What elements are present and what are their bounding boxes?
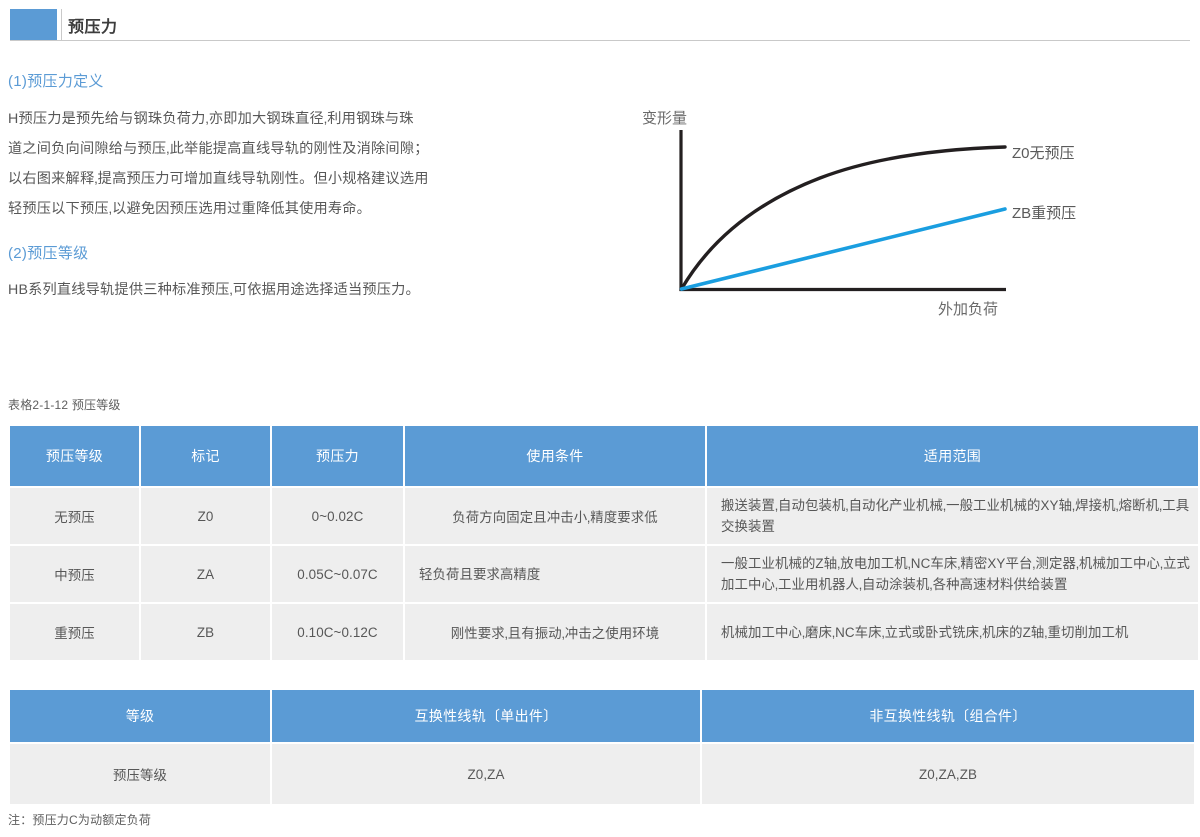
subheading-preload-definition: (1)预压力定义 xyxy=(8,70,104,91)
cell-conditions: 轻负荷且要求高精度 xyxy=(405,546,705,602)
cell-applications: 机械加工中心‚磨床‚NC车床‚立式或卧式铣床‚机床的Z轴‚重切削加工机 xyxy=(707,604,1198,660)
column-header-interchangeable: 互换性线轨〔单出件〕 xyxy=(272,690,700,742)
cell-conditions: 负荷方向固定且冲击小‚精度要求低 xyxy=(405,488,705,544)
cell-grade: 重预压 xyxy=(10,604,139,660)
chart-series-z0-curve xyxy=(682,147,1006,289)
section-header: 预压力 xyxy=(10,9,1190,41)
cell-applications: 一般工业机械的Z轴‚放电加工机‚NC车床‚精密XY平台‚测定器‚机械加工中心‚立… xyxy=(707,546,1198,602)
document-page: 预压力 (1)预压力定义 H预压力是预先给与钢珠负荷力‚亦即加大钢珠直径‚利用钢… xyxy=(0,0,1200,837)
table-preload-grades: 预压等级 标记 预压力 使用条件 适用范围 无预压 Z0 0~0.02C 负荷方… xyxy=(8,424,1200,662)
table-caption-preload-grades: 表格2-1-12 预压等级 xyxy=(8,396,121,413)
cell-grade: 无预压 xyxy=(10,488,139,544)
section-accent-swatch xyxy=(10,9,57,40)
chart-y-axis-label: 变形量 xyxy=(642,107,687,128)
table-row: 中预压 ZA 0.05C~0.07C 轻负荷且要求高精度 一般工业机械的Z轴‚放… xyxy=(10,546,1198,602)
paragraph-line: 道之间负向间隙给与预压‚此举能提高直线导轨的刚性及消除间隙； xyxy=(8,134,568,164)
column-header-conditions: 使用条件 xyxy=(405,426,705,486)
chart-series-zb-line xyxy=(682,209,1006,289)
paragraph-line: H预压力是预先给与钢珠负荷力‚亦即加大钢珠直径‚利用钢珠与珠 xyxy=(8,104,568,134)
cell-mark: ZB xyxy=(141,604,270,660)
column-header-applications: 适用范围 xyxy=(707,426,1198,486)
cell-force: 0.10C~0.12C xyxy=(272,604,403,660)
table-header-row: 等级 互换性线轨〔单出件〕 非互换性线轨〔组合件〕 xyxy=(10,690,1194,742)
column-header-non-interchangeable: 非互换性线轨〔组合件〕 xyxy=(702,690,1194,742)
paragraph-line: 轻预压以下预压‚以避免因预压选用过重降低其使用寿命。 xyxy=(8,194,568,224)
paragraph-line: 以右图来解释‚提高预压力可增加直线导轨刚性。但小规格建议选用 xyxy=(8,164,568,194)
cell-non-interchangeable: Z0,ZA,ZB xyxy=(702,744,1194,804)
cell-grade: 中预压 xyxy=(10,546,139,602)
page-title: 预压力 xyxy=(68,13,118,37)
cell-mark: ZA xyxy=(141,546,270,602)
cell-force: 0.05C~0.07C xyxy=(272,546,403,602)
section-underline xyxy=(10,40,1190,41)
cell-conditions: 刚性要求‚且有振动‚冲击之使用环境 xyxy=(405,604,705,660)
table-header-row: 预压等级 标记 预压力 使用条件 适用范围 xyxy=(10,426,1198,486)
column-header-grade: 预压等级 xyxy=(10,426,139,486)
cell-applications: 搬送装置‚自动包装机‚自动化产业机械‚一般工业机械的XY轴‚焊接机‚熔断机‚工具… xyxy=(707,488,1198,544)
table-row: 无预压 Z0 0~0.02C 负荷方向固定且冲击小‚精度要求低 搬送装置‚自动包… xyxy=(10,488,1198,544)
chart-legend-label-z0: Z0无预压 xyxy=(1012,142,1075,163)
table-rail-types: 等级 互换性线轨〔单出件〕 非互换性线轨〔组合件〕 预压等级 Z0,ZA Z0,… xyxy=(8,688,1196,806)
cell-grade: 预压等级 xyxy=(10,744,270,804)
chart-x-axis-label: 外加负荷 xyxy=(938,298,998,319)
cell-interchangeable: Z0,ZA xyxy=(272,744,700,804)
table-row: 预压等级 Z0,ZA Z0,ZA,ZB xyxy=(10,744,1194,804)
cell-force: 0~0.02C xyxy=(272,488,403,544)
paragraph-preload-definition: H预压力是预先给与钢珠负荷力‚亦即加大钢珠直径‚利用钢珠与珠 道之间负向间隙给与… xyxy=(8,104,568,224)
section-divider xyxy=(61,9,62,40)
table-row: 重预压 ZB 0.10C~0.12C 刚性要求‚且有振动‚冲击之使用环境 机械加… xyxy=(10,604,1198,660)
column-header-grade: 等级 xyxy=(10,690,270,742)
column-header-force: 预压力 xyxy=(272,426,403,486)
footnote: 注：预压力C为动额定负荷 xyxy=(8,811,151,828)
paragraph-preload-grades: HB系列直线导轨提供三种标准预压‚可依据用途选择适当预压力。 xyxy=(8,277,578,303)
subheading-preload-grades: (2)预压等级 xyxy=(8,242,88,263)
column-header-mark: 标记 xyxy=(141,426,270,486)
preload-deformation-chart: 变形量 外加负荷 Z0无预压 ZB重预压 xyxy=(620,95,1180,335)
cell-mark: Z0 xyxy=(141,488,270,544)
chart-svg xyxy=(620,95,1180,335)
chart-legend-label-zb: ZB重预压 xyxy=(1012,202,1076,223)
